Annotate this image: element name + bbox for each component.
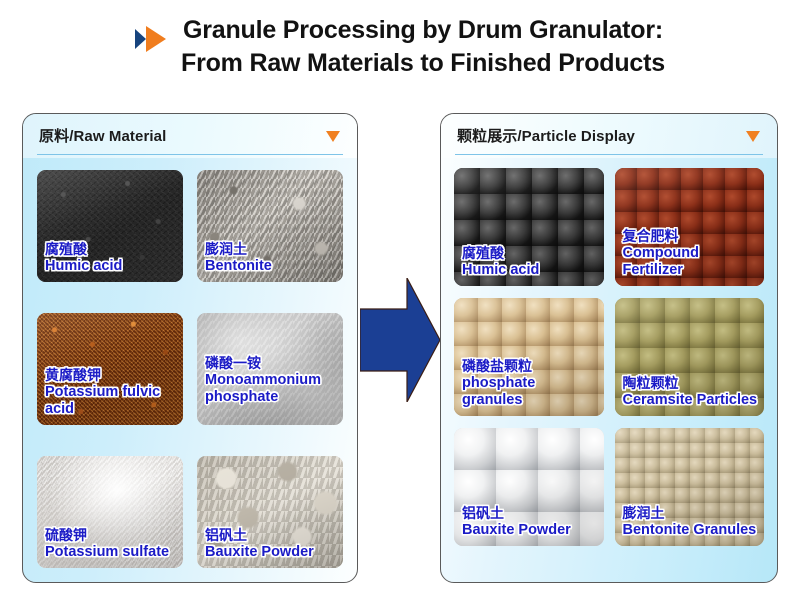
header-divider: [37, 154, 343, 155]
tile-potassium-sulfate-raw[interactable]: 硫酸钾 Potassium sulfate: [37, 456, 183, 568]
tile-caption: 复合肥料 Compound Fertilizer: [623, 228, 761, 279]
bullet-triangle-navy: [135, 29, 146, 49]
caption-en: Monoammonium phosphate: [205, 371, 339, 405]
caption-cn: 硫酸钾: [45, 527, 179, 544]
caption-cn: 腐殖酸: [45, 241, 179, 258]
caption-cn: 复合肥料: [623, 228, 761, 245]
panel-raw-material: 原料/Raw Material 腐殖酸 Humic acid 膨润土 Bento…: [22, 113, 358, 583]
tile-caption: 磷酸一铵 Monoammonium phosphate: [205, 355, 339, 406]
tile-bentonite-granules[interactable]: 膨润土 Bentonite Granules: [615, 428, 765, 546]
double-triangle-bullet-icon: [135, 26, 169, 52]
caption-cn: 磷酸盐颗粒: [462, 358, 600, 375]
caption-en: Compound Fertilizer: [623, 245, 761, 279]
tile-caption: 陶粒颗粒 Ceramsite Particles: [623, 375, 761, 409]
caption-en: Bauxite Powder: [462, 522, 600, 539]
title-line-2: From Raw Materials to Finished Products: [181, 47, 665, 80]
caption-en: Humic acid: [462, 262, 600, 279]
tile-grid-particle-display: 腐殖酸 Humic acid 复合肥料 Compound Fertilizer …: [441, 158, 777, 582]
tile-potassium-fulvic-acid-raw[interactable]: 黄腐酸钾 Potassium fulvic acid: [37, 313, 183, 425]
bullet-triangle-orange: [146, 26, 166, 52]
tile-ceramsite-particles[interactable]: 陶粒颗粒 Ceramsite Particles: [615, 298, 765, 416]
caption-cn: 磷酸一铵: [205, 355, 339, 372]
tile-caption: 腐殖酸 Humic acid: [462, 245, 600, 279]
panel-header-particle-display: 颗粒展示/Particle Display: [441, 114, 777, 158]
panel-title-raw-material: 原料/Raw Material: [39, 125, 166, 146]
tile-caption: 硫酸钾 Potassium sulfate: [45, 527, 179, 561]
header-divider: [455, 154, 763, 155]
tile-caption: 腐殖酸 Humic acid: [45, 241, 179, 275]
tile-humic-acid-granule[interactable]: 腐殖酸 Humic acid: [454, 168, 604, 286]
caption-en: Ceramsite Particles: [623, 392, 761, 409]
panel-particle-display: 颗粒展示/Particle Display 腐殖酸 Humic acid 复合肥…: [440, 113, 778, 583]
caption-cn: 铝矾土: [205, 527, 339, 544]
tile-grid-raw-material: 腐殖酸 Humic acid 膨润土 Bentonite 黄腐酸钾 Potass…: [23, 158, 357, 582]
tile-caption: 铝矾土 Bauxite Powder: [205, 527, 339, 561]
panel-header-raw-material: 原料/Raw Material: [23, 114, 357, 158]
caption-cn: 膨润土: [623, 505, 761, 522]
caption-en: Potassium sulfate: [45, 544, 179, 561]
caption-en: Bentonite Granules: [623, 522, 761, 539]
tile-bauxite-powder-raw[interactable]: 铝矾土 Bauxite Powder: [197, 456, 343, 568]
tile-bentonite-raw[interactable]: 膨润土 Bentonite: [197, 170, 343, 282]
caption-en: phosphate granules: [462, 375, 600, 409]
tile-compound-fertilizer-granule[interactable]: 复合肥料 Compound Fertilizer: [615, 168, 765, 286]
caption-cn: 膨润土: [205, 241, 339, 258]
triangle-down-icon[interactable]: [326, 131, 340, 142]
tile-caption: 铝矾土 Bauxite Powder: [462, 505, 600, 539]
right-arrow-icon: [360, 278, 440, 402]
page-title: Granule Processing by Drum Granulator: F…: [0, 14, 800, 80]
tile-caption: 膨润土 Bentonite Granules: [623, 505, 761, 539]
caption-en: Humic acid: [45, 258, 179, 275]
caption-en: Bentonite: [205, 258, 339, 275]
tile-bauxite-powder-granule[interactable]: 铝矾土 Bauxite Powder: [454, 428, 604, 546]
tile-caption: 黄腐酸钾 Potassium fulvic acid: [45, 367, 179, 418]
caption-cn: 黄腐酸钾: [45, 367, 179, 384]
tile-caption: 膨润土 Bentonite: [205, 241, 339, 275]
caption-en: Potassium fulvic acid: [45, 384, 179, 418]
caption-cn: 铝矾土: [462, 505, 600, 522]
panel-title-particle-display: 颗粒展示/Particle Display: [457, 125, 635, 146]
tile-caption: 磷酸盐颗粒 phosphate granules: [462, 358, 600, 409]
caption-cn: 陶粒颗粒: [623, 375, 761, 392]
triangle-down-icon[interactable]: [746, 131, 760, 142]
tile-humic-acid-raw[interactable]: 腐殖酸 Humic acid: [37, 170, 183, 282]
title-line-1: Granule Processing by Drum Granulator:: [181, 14, 665, 47]
caption-en: Bauxite Powder: [205, 544, 339, 561]
tile-phosphate-granules[interactable]: 磷酸盐颗粒 phosphate granules: [454, 298, 604, 416]
caption-cn: 腐殖酸: [462, 245, 600, 262]
tile-monoammonium-phosphate-raw[interactable]: 磷酸一铵 Monoammonium phosphate: [197, 313, 343, 425]
